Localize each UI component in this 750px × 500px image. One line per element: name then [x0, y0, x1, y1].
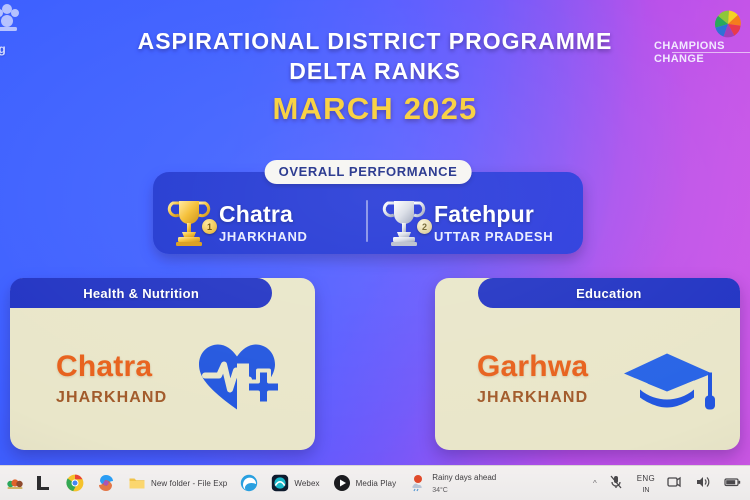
- winner-rank-1: 1 Chatra JHARKHAND: [153, 195, 368, 251]
- webex-icon: [271, 474, 289, 492]
- chevron-up-icon[interactable]: ^: [593, 479, 597, 488]
- weather-text: Rainy days ahead 34°C: [432, 471, 496, 496]
- card-education-state: JHARKHAND: [477, 389, 588, 407]
- taskbar-apps: New folder - File Exp Webex: [66, 471, 593, 496]
- weather-widget[interactable]: Rainy days ahead 34°C: [409, 471, 496, 496]
- headline-month-year: MARCH 2025: [0, 88, 750, 130]
- winner-state-2: UTTAR PRADESH: [434, 230, 553, 243]
- weather-temperature: 34°C: [432, 487, 448, 494]
- slide-headline: ASPIRATIONAL DISTRICT PROGRAMME DELTA RA…: [0, 26, 750, 130]
- winner-names-1: Chatra JHARKHAND: [219, 203, 308, 243]
- winner-state-1: JHARKHAND: [219, 230, 308, 243]
- card-health-text: Chatra JHARKHAND: [10, 351, 167, 407]
- card-health-header: Health & Nutrition: [10, 278, 272, 308]
- headline-line-1: ASPIRATIONAL DISTRICT PROGRAMME: [0, 26, 750, 56]
- media-player-label: Media Play: [356, 479, 397, 488]
- system-tray: ^ ENG IN: [593, 472, 750, 495]
- taskbar-left-group: [0, 474, 66, 492]
- card-education: Education Garhwa JHARKHAND: [435, 278, 740, 450]
- card-health-district: Chatra: [56, 351, 167, 383]
- graduation-cap-icon: [624, 340, 716, 419]
- silver-trophy-icon: 2: [380, 195, 428, 251]
- media-player-window[interactable]: Media Play: [333, 474, 397, 492]
- weather-condition: Rainy days ahead: [432, 473, 496, 482]
- start-icon[interactable]: [6, 474, 24, 492]
- media-player-icon: [333, 474, 351, 492]
- presentation-slide: yog CHAMPIONS CHANGE: [0, 0, 750, 466]
- card-health-state: JHARKHAND: [56, 389, 167, 407]
- language-indicator[interactable]: ENG IN: [637, 472, 655, 495]
- battery-icon[interactable]: [724, 474, 742, 492]
- language-code: ENG: [637, 474, 655, 483]
- card-health-body: Chatra JHARKHAND: [10, 308, 315, 450]
- overall-performance-label: OVERALL PERFORMANCE: [265, 160, 472, 184]
- winner-district-2: Fatehpur: [434, 203, 553, 226]
- file-explorer-icon[interactable]: [34, 474, 52, 492]
- card-education-header: Education: [478, 278, 740, 308]
- network-icon[interactable]: [666, 474, 684, 492]
- copilot-icon[interactable]: [97, 474, 115, 492]
- screenshot-root: yog CHAMPIONS CHANGE: [0, 0, 750, 500]
- file-explorer-window-label: New folder - File Exp: [151, 479, 227, 488]
- chrome-icon[interactable]: [66, 474, 84, 492]
- rank-badge-1: 1: [202, 219, 217, 234]
- microphone-muted-icon[interactable]: [608, 474, 626, 492]
- file-explorer-window[interactable]: New folder - File Exp: [128, 474, 227, 492]
- winner-list: 1 Chatra JHARKHAND: [153, 192, 583, 254]
- heart-pulse-cross-icon: [195, 340, 281, 419]
- winner-rank-2: 2 Fatehpur UTTAR PRADESH: [368, 195, 583, 251]
- rank-badge-2: 2: [417, 219, 432, 234]
- headline-line-2: DELTA RANKS: [0, 56, 750, 86]
- winner-names-2: Fatehpur UTTAR PRADESH: [434, 203, 553, 243]
- card-education-text: Garhwa JHARKHAND: [435, 351, 588, 407]
- card-education-district: Garhwa: [477, 351, 588, 383]
- webex-window[interactable]: Webex: [271, 474, 319, 492]
- rain-cloud-icon: [409, 474, 427, 492]
- taskbar: New folder - File Exp Webex: [0, 465, 750, 500]
- overall-performance-banner: OVERALL PERFORMANCE: [153, 172, 583, 254]
- card-education-body: Garhwa JHARKHAND: [435, 308, 740, 450]
- language-region: IN: [642, 487, 649, 494]
- edge-icon[interactable]: [240, 474, 258, 492]
- winner-district-1: Chatra: [219, 203, 308, 226]
- volume-icon[interactable]: [695, 474, 713, 492]
- webex-label: Webex: [294, 479, 319, 488]
- folder-icon: [128, 474, 146, 492]
- card-health-nutrition: Health & Nutrition Chatra JHARKHAND: [10, 278, 315, 450]
- gold-trophy-icon: 1: [165, 195, 213, 251]
